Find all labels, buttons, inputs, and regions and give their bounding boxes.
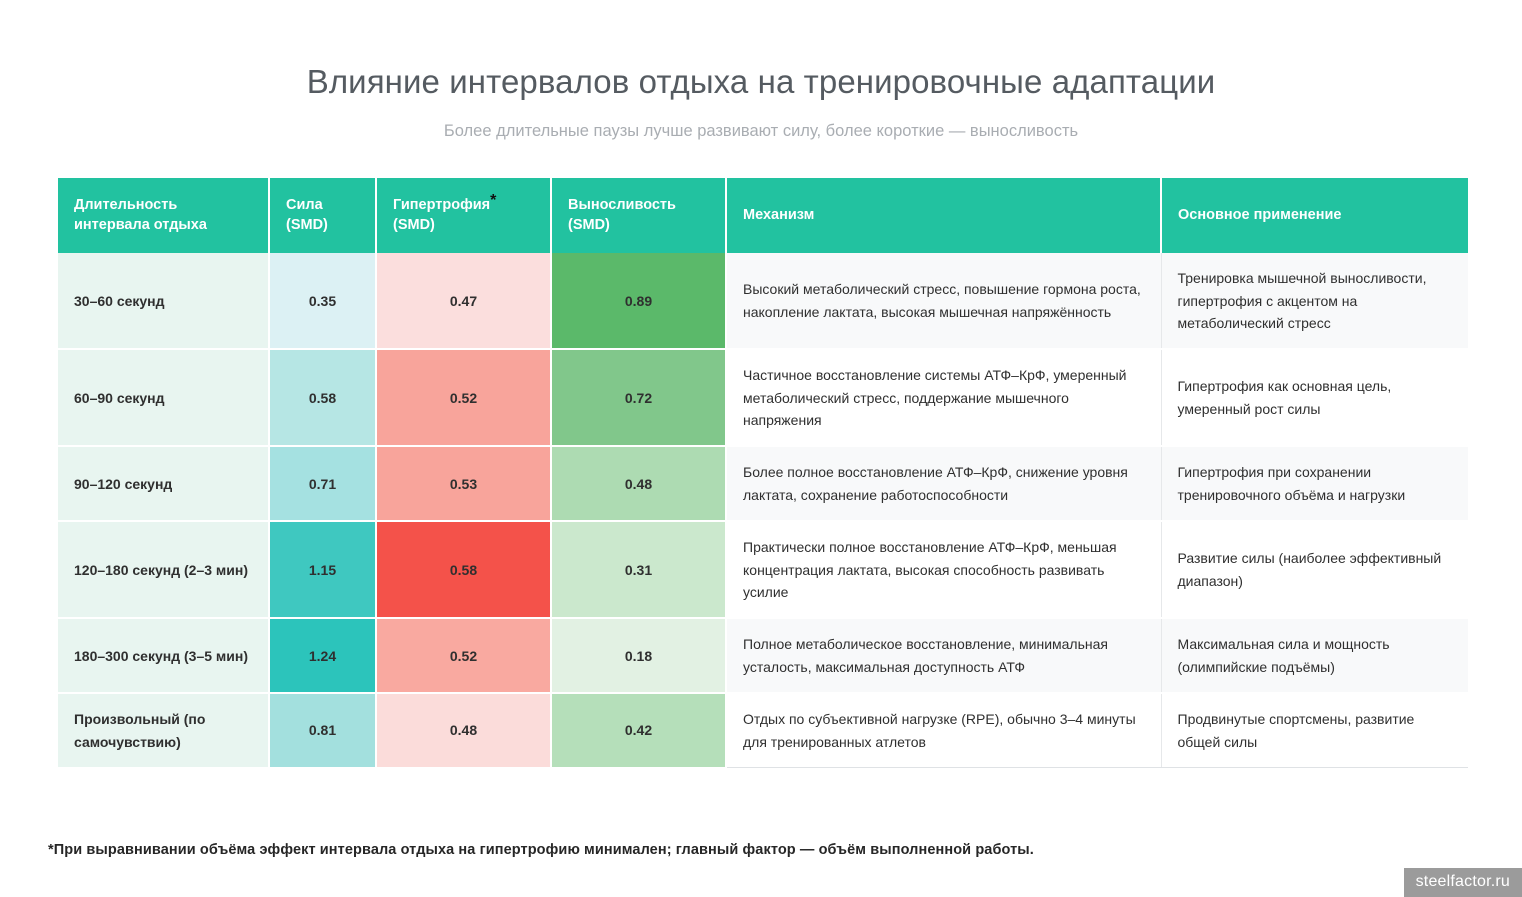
column-header-strength-line2: (SMD)	[286, 217, 328, 233]
cell-duration: 90–120 секунд	[58, 446, 269, 521]
column-header-hypertrophy-line1: Гипертрофия	[393, 197, 490, 213]
column-header-mechanism: Механизм	[726, 178, 1161, 253]
table-row: Произвольный (по самочувствию) 0.81 0.48…	[58, 693, 1468, 768]
cell-mechanism: Полное метаболическое восстановление, ми…	[726, 618, 1161, 693]
watermark: steelfactor.ru	[1404, 868, 1522, 897]
cell-duration: Произвольный (по самочувствию)	[58, 693, 269, 768]
table-header-row: Длительность интервала отдыха Сила (SMD)…	[58, 178, 1468, 253]
table-row: 60–90 секунд 0.58 0.52 0.72 Частичное во…	[58, 349, 1468, 446]
column-header-hypertrophy: Гипертрофия* (SMD)	[376, 178, 551, 253]
cell-duration: 60–90 секунд	[58, 349, 269, 446]
table-footnote: *При выравнивании объёма эффект интервал…	[48, 842, 1034, 858]
cell-strength: 1.15	[269, 521, 376, 618]
cell-application: Гипертрофия при сохранении тренировочног…	[1161, 446, 1468, 521]
cell-duration: 180–300 секунд (3–5 мин)	[58, 618, 269, 693]
column-header-duration-line1: Длительность	[74, 197, 177, 213]
page-subtitle: Более длительные паузы лучше развивают с…	[0, 102, 1522, 142]
cell-endurance: 0.72	[551, 349, 726, 446]
column-header-duration-line2: интервала отдыха	[74, 217, 207, 233]
cell-strength: 0.35	[269, 253, 376, 349]
cell-mechanism: Практически полное восстановление АТФ–Кр…	[726, 521, 1161, 618]
table-row: 30–60 секунд 0.35 0.47 0.89 Высокий мета…	[58, 253, 1468, 349]
table-row: 90–120 секунд 0.71 0.53 0.48 Более полно…	[58, 446, 1468, 521]
column-header-strength: Сила (SMD)	[269, 178, 376, 253]
page-title: Влияние интервалов отдыха на тренировочн…	[0, 0, 1522, 102]
cell-mechanism: Частичное восстановление системы АТФ–КрФ…	[726, 349, 1161, 446]
column-header-endurance-line1: Выносливость	[568, 197, 676, 213]
cell-hypertrophy: 0.47	[376, 253, 551, 349]
cell-strength: 0.71	[269, 446, 376, 521]
page-root: Влияние интервалов отдыха на тренировочн…	[0, 0, 1522, 897]
cell-strength: 0.58	[269, 349, 376, 446]
rest-interval-table-container: Длительность интервала отдыха Сила (SMD)…	[58, 178, 1468, 769]
cell-endurance: 0.42	[551, 693, 726, 768]
column-header-endurance-line2: (SMD)	[568, 217, 610, 233]
cell-application: Максимальная сила и мощность (олимпийски…	[1161, 618, 1468, 693]
column-header-endurance: Выносливость (SMD)	[551, 178, 726, 253]
cell-application: Гипертрофия как основная цель, умеренный…	[1161, 349, 1468, 446]
table-header: Длительность интервала отдыха Сила (SMD)…	[58, 178, 1468, 253]
cell-endurance: 0.31	[551, 521, 726, 618]
cell-application: Тренировка мышечной выносливости, гиперт…	[1161, 253, 1468, 349]
cell-hypertrophy: 0.52	[376, 349, 551, 446]
cell-mechanism: Отдых по субъективной нагрузке (RPE), об…	[726, 693, 1161, 768]
cell-hypertrophy: 0.58	[376, 521, 551, 618]
cell-duration: 30–60 секунд	[58, 253, 269, 349]
cell-strength: 0.81	[269, 693, 376, 768]
rest-interval-table: Длительность интервала отдыха Сила (SMD)…	[58, 178, 1468, 769]
cell-mechanism: Более полное восстановление АТФ–КрФ, сни…	[726, 446, 1161, 521]
cell-application: Развитие силы (наиболее эффективный диап…	[1161, 521, 1468, 618]
cell-hypertrophy: 0.52	[376, 618, 551, 693]
cell-strength: 1.24	[269, 618, 376, 693]
cell-mechanism: Высокий метаболический стресс, повышение…	[726, 253, 1161, 349]
footnote-asterisk-marker: *	[490, 192, 496, 209]
column-header-hypertrophy-line2: (SMD)	[393, 217, 435, 233]
cell-endurance: 0.18	[551, 618, 726, 693]
table-row: 120–180 секунд (2–3 мин) 1.15 0.58 0.31 …	[58, 521, 1468, 618]
table-body: 30–60 секунд 0.35 0.47 0.89 Высокий мета…	[58, 253, 1468, 768]
cell-application: Продвинутые спортсмены, развитие общей с…	[1161, 693, 1468, 768]
cell-hypertrophy: 0.48	[376, 693, 551, 768]
column-header-strength-line1: Сила	[286, 197, 323, 213]
column-header-application: Основное применение	[1161, 178, 1468, 253]
column-header-duration: Длительность интервала отдыха	[58, 178, 269, 253]
table-row: 180–300 секунд (3–5 мин) 1.24 0.52 0.18 …	[58, 618, 1468, 693]
cell-endurance: 0.89	[551, 253, 726, 349]
cell-endurance: 0.48	[551, 446, 726, 521]
cell-duration: 120–180 секунд (2–3 мин)	[58, 521, 269, 618]
cell-hypertrophy: 0.53	[376, 446, 551, 521]
